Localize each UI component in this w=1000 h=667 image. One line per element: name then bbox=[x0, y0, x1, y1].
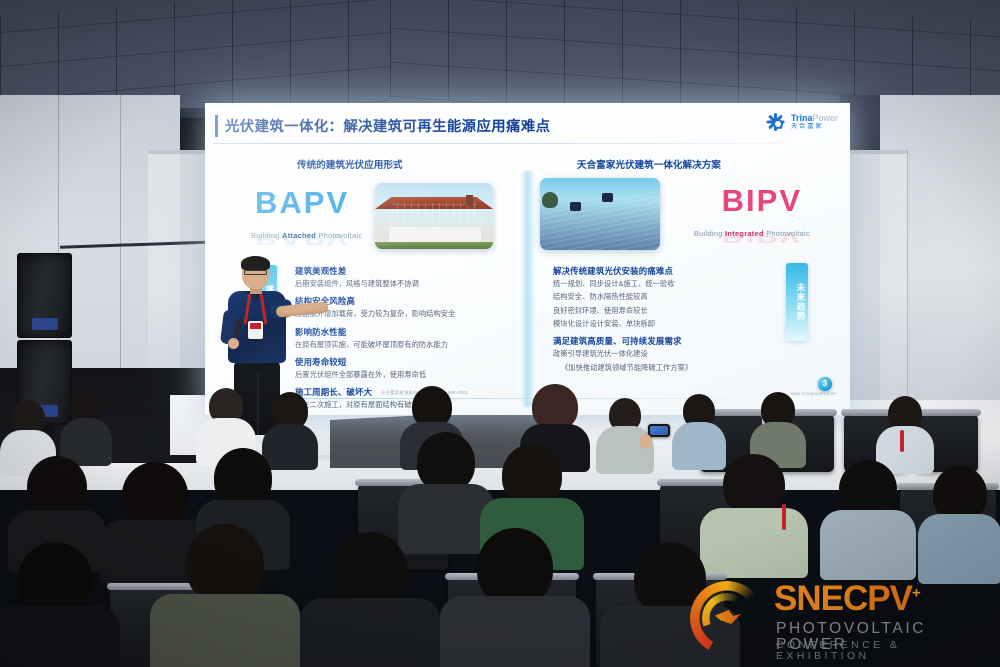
audience-member bbox=[440, 528, 590, 667]
column-heading-right: 天合富家光伏建筑一体化解决方案 bbox=[577, 157, 721, 171]
bullet-sub: 后置光伏组件全部暴露在外，使用寿命低 bbox=[295, 370, 505, 379]
group-sub: 《加快推动建筑领域节能降碳工作方案》 bbox=[553, 363, 769, 372]
snec-tagline-2: CONFERENCE & EXHIBITION bbox=[776, 640, 992, 661]
brand-name-en: TrinaPower bbox=[791, 114, 838, 123]
audience-member bbox=[150, 524, 300, 667]
group-sub: 模块化设计设计安装、单块拆卸 bbox=[553, 319, 769, 328]
column-divider bbox=[521, 171, 535, 407]
title-accent-bar bbox=[215, 115, 218, 137]
bapv-acronym: BAPV bbox=[255, 187, 349, 218]
group-head: 解决传统建筑光伏安装的痛难点 bbox=[553, 265, 769, 277]
bipv-roof-photo bbox=[540, 178, 660, 250]
bipv-acronym: BIPV bbox=[722, 185, 802, 216]
slide-page-number: 3 bbox=[818, 377, 832, 391]
lanyard bbox=[782, 504, 786, 530]
slide-title: 光伏建筑一体化：解决建筑可再生能源应用痛难点 bbox=[225, 115, 550, 136]
audience-member bbox=[300, 532, 440, 667]
right-bullet-list: 解决传统建筑光伏安装的痛难点 统一规划、同步设计&施工、统一验收 结构安全、防水… bbox=[553, 265, 769, 379]
bullet-head: 建筑美观性差 bbox=[295, 265, 505, 277]
lanyard bbox=[900, 430, 904, 452]
snec-pv-logo: SNECPV+ PHOTOVOLTAIC POWER CONFERENCE & … bbox=[682, 577, 992, 659]
hand bbox=[640, 434, 651, 449]
audience-member bbox=[0, 542, 120, 667]
bullet-head: 影响防水性能 bbox=[295, 326, 505, 338]
audience-member bbox=[918, 466, 1000, 582]
audience-member bbox=[876, 396, 934, 470]
bipv-expansion: Building Integrated Photovoltaic bbox=[694, 229, 810, 238]
presenter-badge bbox=[248, 321, 263, 339]
bullet-sub: 后期安装组件，风格与建筑整体不协调 bbox=[295, 279, 505, 288]
bapv-house-photo bbox=[375, 183, 493, 249]
ribbon-right-future: 未来趋势 bbox=[786, 263, 808, 341]
bapv-expansion: Building Attached Photovoltaic bbox=[251, 231, 362, 240]
column-heading-left: 传统的建筑光伏应用形式 bbox=[297, 157, 403, 171]
trina-snowflake-icon bbox=[766, 112, 786, 132]
ceiling-chevron-seam bbox=[250, 0, 730, 54]
presenter-hair bbox=[241, 256, 270, 271]
group-sub: 结构安全、防水隔热性能较高 bbox=[553, 292, 769, 301]
smartphone-recording bbox=[648, 424, 670, 437]
trinapower-logo: TrinaPower 天合富家 bbox=[766, 112, 838, 132]
pa-speaker-top bbox=[17, 253, 72, 338]
audience-member bbox=[60, 390, 112, 462]
snec-wordmark: SNECPV+ bbox=[774, 581, 920, 616]
group-sub: 政策引导建筑光伏一体化建设 bbox=[553, 349, 769, 358]
group-head: 满足建筑高质量、可持续发展需求 bbox=[553, 335, 769, 347]
bullet-sub: 在原有屋顶实施，可能破坏屋顶原有的防水能力 bbox=[295, 340, 505, 349]
presenter-hand-left bbox=[228, 338, 239, 349]
glasses-icon bbox=[244, 270, 267, 275]
title-divider bbox=[213, 143, 841, 144]
conference-photo: 光伏建筑一体化：解决建筑可再生能源应用痛难点 TrinaPower 天合富家 传… bbox=[0, 0, 1000, 667]
group-sub: 良好密封环境、使用寿命较长 bbox=[553, 306, 769, 315]
brand-name-cn: 天合富家 bbox=[791, 124, 838, 130]
audience-member bbox=[820, 460, 916, 578]
bullet-head: 使用寿命较短 bbox=[295, 356, 505, 368]
group-sub: 统一规划、同步设计&施工、统一验收 bbox=[553, 279, 769, 288]
